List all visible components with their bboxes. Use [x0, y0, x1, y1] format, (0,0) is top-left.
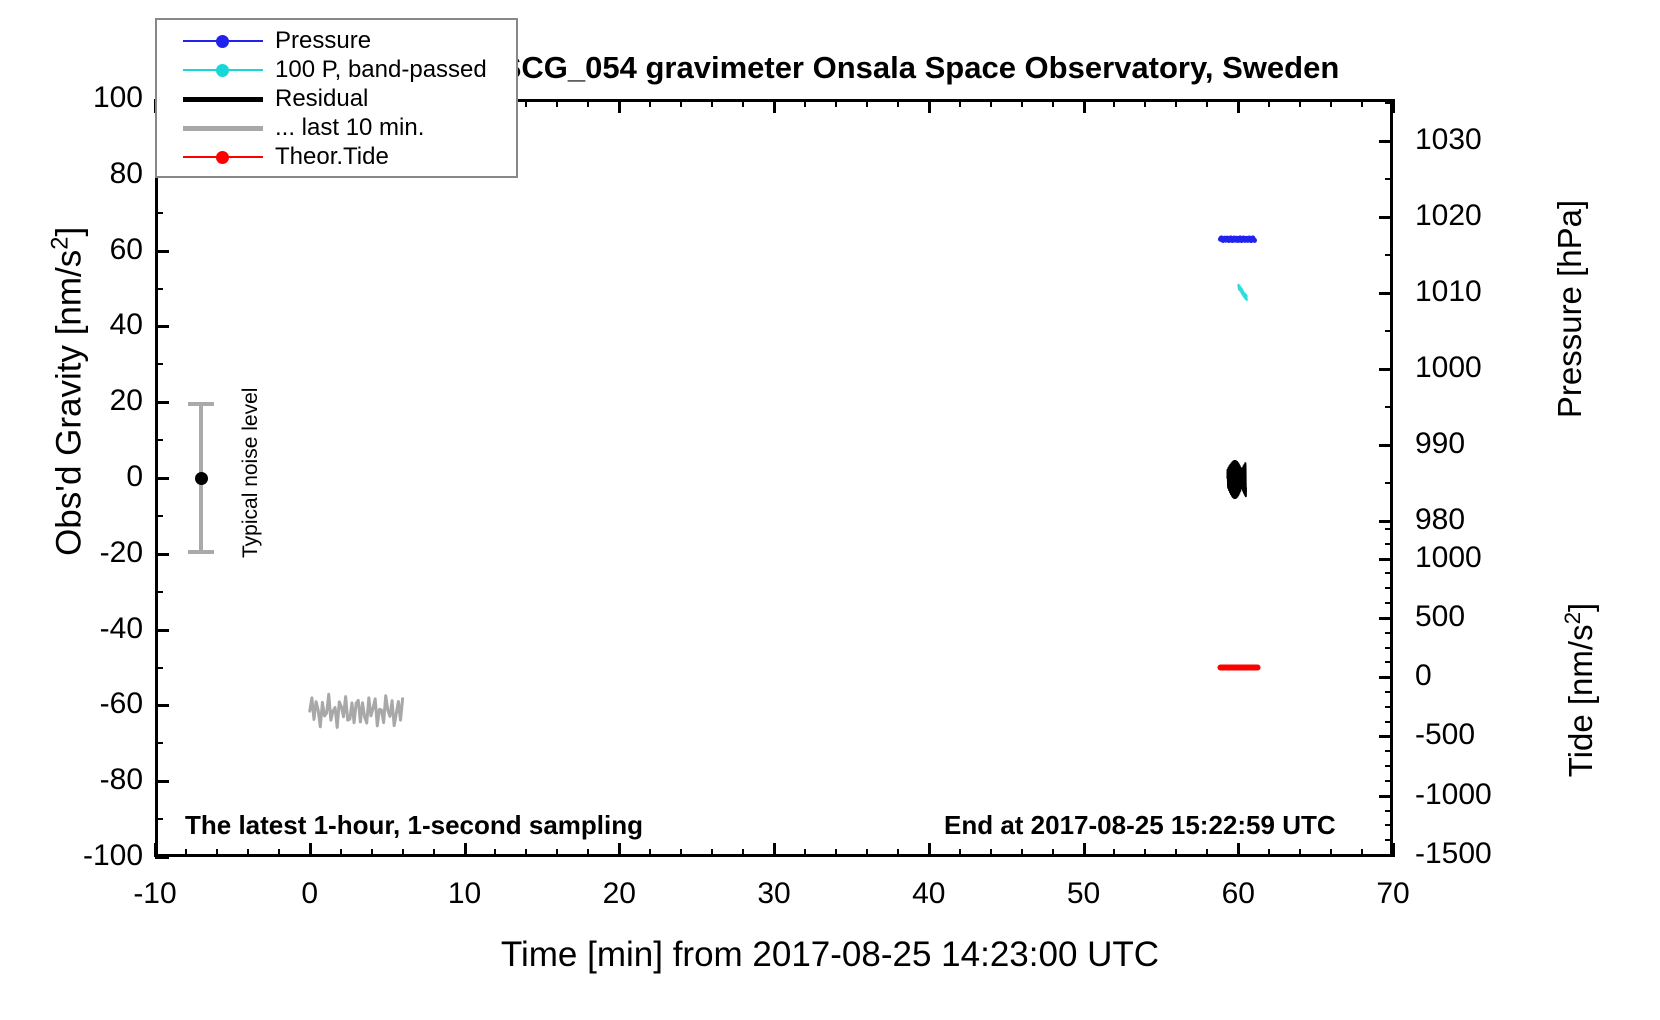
series-pressure	[1220, 238, 1254, 241]
legend-residual-swatch	[183, 89, 263, 109]
noise-bar-cap-lower	[188, 550, 214, 554]
legend-tide-dot-icon	[216, 151, 229, 164]
legend-residual[interactable]: Residual	[157, 84, 516, 113]
legend: Pressure100 P, band-passedResidual... la…	[155, 18, 518, 178]
legend-last10-swatch	[183, 118, 263, 138]
typical-noise-level-label: Typical noise level	[239, 387, 263, 557]
noise-bar-cap-upper	[188, 402, 214, 406]
series-last-10-min	[310, 694, 403, 727]
legend-pressure-dot-icon	[216, 35, 229, 48]
series-residual	[1227, 461, 1246, 498]
legend-last10[interactable]: ... last 10 min.	[157, 113, 516, 142]
legend-bandpassed-label: 100 P, band-passed	[275, 58, 487, 82]
legend-bandpassed[interactable]: 100 P, band-passed	[157, 55, 516, 84]
legend-bandpassed-dot-icon	[216, 64, 229, 77]
gravimeter-plot-page: SCG_054 gravimeter Onsala Space Observat…	[0, 0, 1660, 1020]
legend-tide[interactable]: Theor.Tide	[157, 142, 516, 171]
series-100-p-band-passed	[1238, 285, 1247, 300]
legend-residual-line-icon	[183, 97, 263, 102]
footer-note-right: End at 2017-08-25 15:22:59 UTC	[944, 810, 1336, 841]
footer-note-left: The latest 1-hour, 1-second sampling	[185, 810, 643, 841]
legend-pressure-label: Pressure	[275, 29, 371, 53]
legend-residual-label: Residual	[275, 87, 368, 111]
legend-bandpassed-swatch	[183, 60, 263, 80]
legend-tide-label: Theor.Tide	[275, 145, 389, 169]
legend-tide-swatch	[183, 147, 263, 167]
legend-pressure[interactable]: Pressure	[157, 26, 516, 55]
legend-pressure-swatch	[183, 31, 263, 51]
legend-last10-line-icon	[183, 126, 263, 131]
legend-last10-label: ... last 10 min.	[275, 116, 424, 140]
